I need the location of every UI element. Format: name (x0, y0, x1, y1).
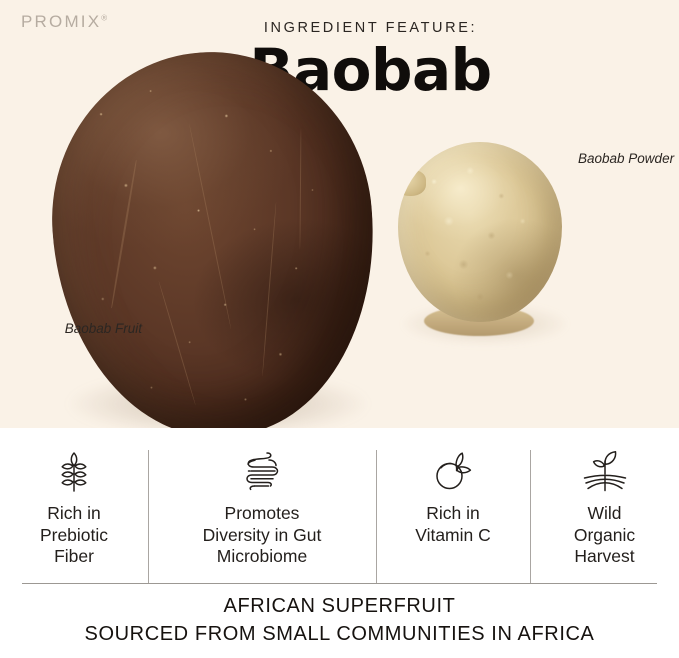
benefit-divider (376, 450, 377, 583)
baobab-powder-label: Baobab Powder (578, 150, 674, 167)
powder-texture-grain (398, 142, 562, 322)
benefit-item-wild-organic-harvest: Wild Organic Harvest (530, 428, 679, 584)
citrus-icon (432, 448, 474, 494)
benefit-item-prebiotic-fiber: Rich in Prebiotic Fiber (0, 428, 148, 584)
intestine-icon (242, 448, 282, 494)
benefit-label: Rich in Vitamin C (415, 503, 491, 546)
powder-clump (398, 170, 426, 196)
hero-kicker: INGREDIENT FEATURE: (0, 20, 679, 36)
baobab-fruit-image (40, 42, 400, 428)
benefit-label: Promotes Diversity in Gut Microbiome (203, 503, 322, 568)
benefit-item-vitamin-c: Rich in Vitamin C (376, 428, 530, 584)
benefit-item-gut-microbiome: Promotes Diversity in Gut Microbiome (148, 428, 376, 584)
baobab-powder-image (396, 140, 572, 346)
footer-section: AFRICAN SUPERFRUIT SOURCED FROM SMALL CO… (0, 592, 679, 649)
benefit-label: Rich in Prebiotic Fiber (40, 503, 108, 568)
powder-mound-shape (398, 142, 562, 322)
fruit-pod-shape (39, 40, 388, 428)
wheat-icon (57, 448, 91, 494)
benefit-divider (530, 450, 531, 583)
benefit-divider (148, 450, 149, 583)
benefit-label: Wild Organic Harvest (574, 503, 635, 568)
baobab-fruit-label: Baobab Fruit (58, 320, 142, 337)
benefits-section: Rich in Prebiotic Fiber Promotes Diversi… (0, 428, 679, 584)
promix-baobab-infographic: PROMIX® INGREDIENT FEATURE: Baobab Baoba… (0, 0, 679, 658)
footer-line-2: SOURCED FROM SMALL COMMUNITIES IN AFRICA (0, 620, 679, 648)
fruit-texture-speckle (39, 40, 388, 428)
horizontal-rule (22, 583, 657, 584)
hero-section: PROMIX® INGREDIENT FEATURE: Baobab Baoba… (0, 0, 679, 428)
footer-line-1: AFRICAN SUPERFRUIT (0, 592, 679, 620)
sprout-icon (583, 448, 627, 494)
